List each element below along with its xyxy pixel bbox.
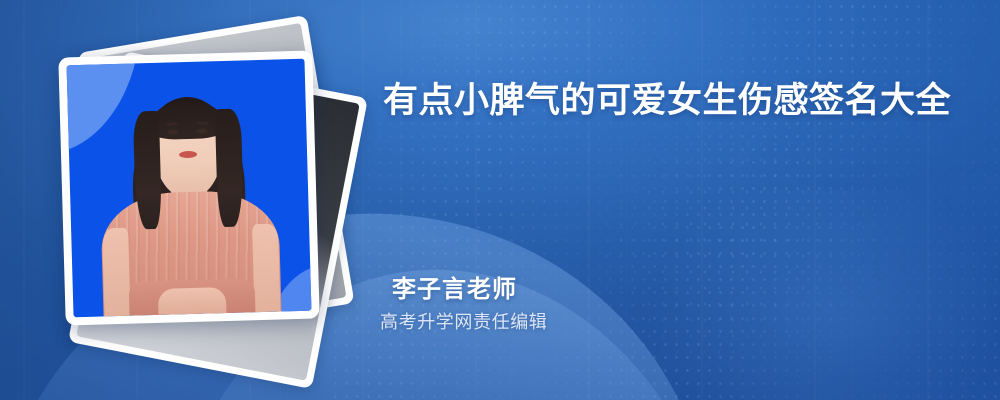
author-name: 李子言老师 <box>380 272 940 306</box>
article-banner: 有点小脾气的可爱女生伤感签名大全 李子言老师 高考升学网责任编辑 <box>0 0 1000 400</box>
photo-card-stack <box>42 28 342 368</box>
author-role: 高考升学网责任编辑 <box>380 310 940 336</box>
photo-card-front <box>58 51 319 326</box>
portrait-eye-right <box>196 128 207 133</box>
portrait-hands <box>158 287 227 315</box>
portrait-hair-right <box>215 108 244 227</box>
portrait-figure <box>67 59 312 318</box>
article-title: 有点小脾气的可爱女生伤感签名大全 <box>383 72 961 130</box>
portrait-eye-left <box>167 129 178 134</box>
portrait-arm-left <box>102 228 130 317</box>
portrait-arm-right <box>252 224 280 313</box>
portrait-photo <box>67 59 312 318</box>
author-byline: 李子言老师 高考升学网责任编辑 <box>380 272 940 336</box>
banner-content: 有点小脾气的可爱女生伤感签名大全 李子言老师 高考升学网责任编辑 <box>380 0 1000 400</box>
